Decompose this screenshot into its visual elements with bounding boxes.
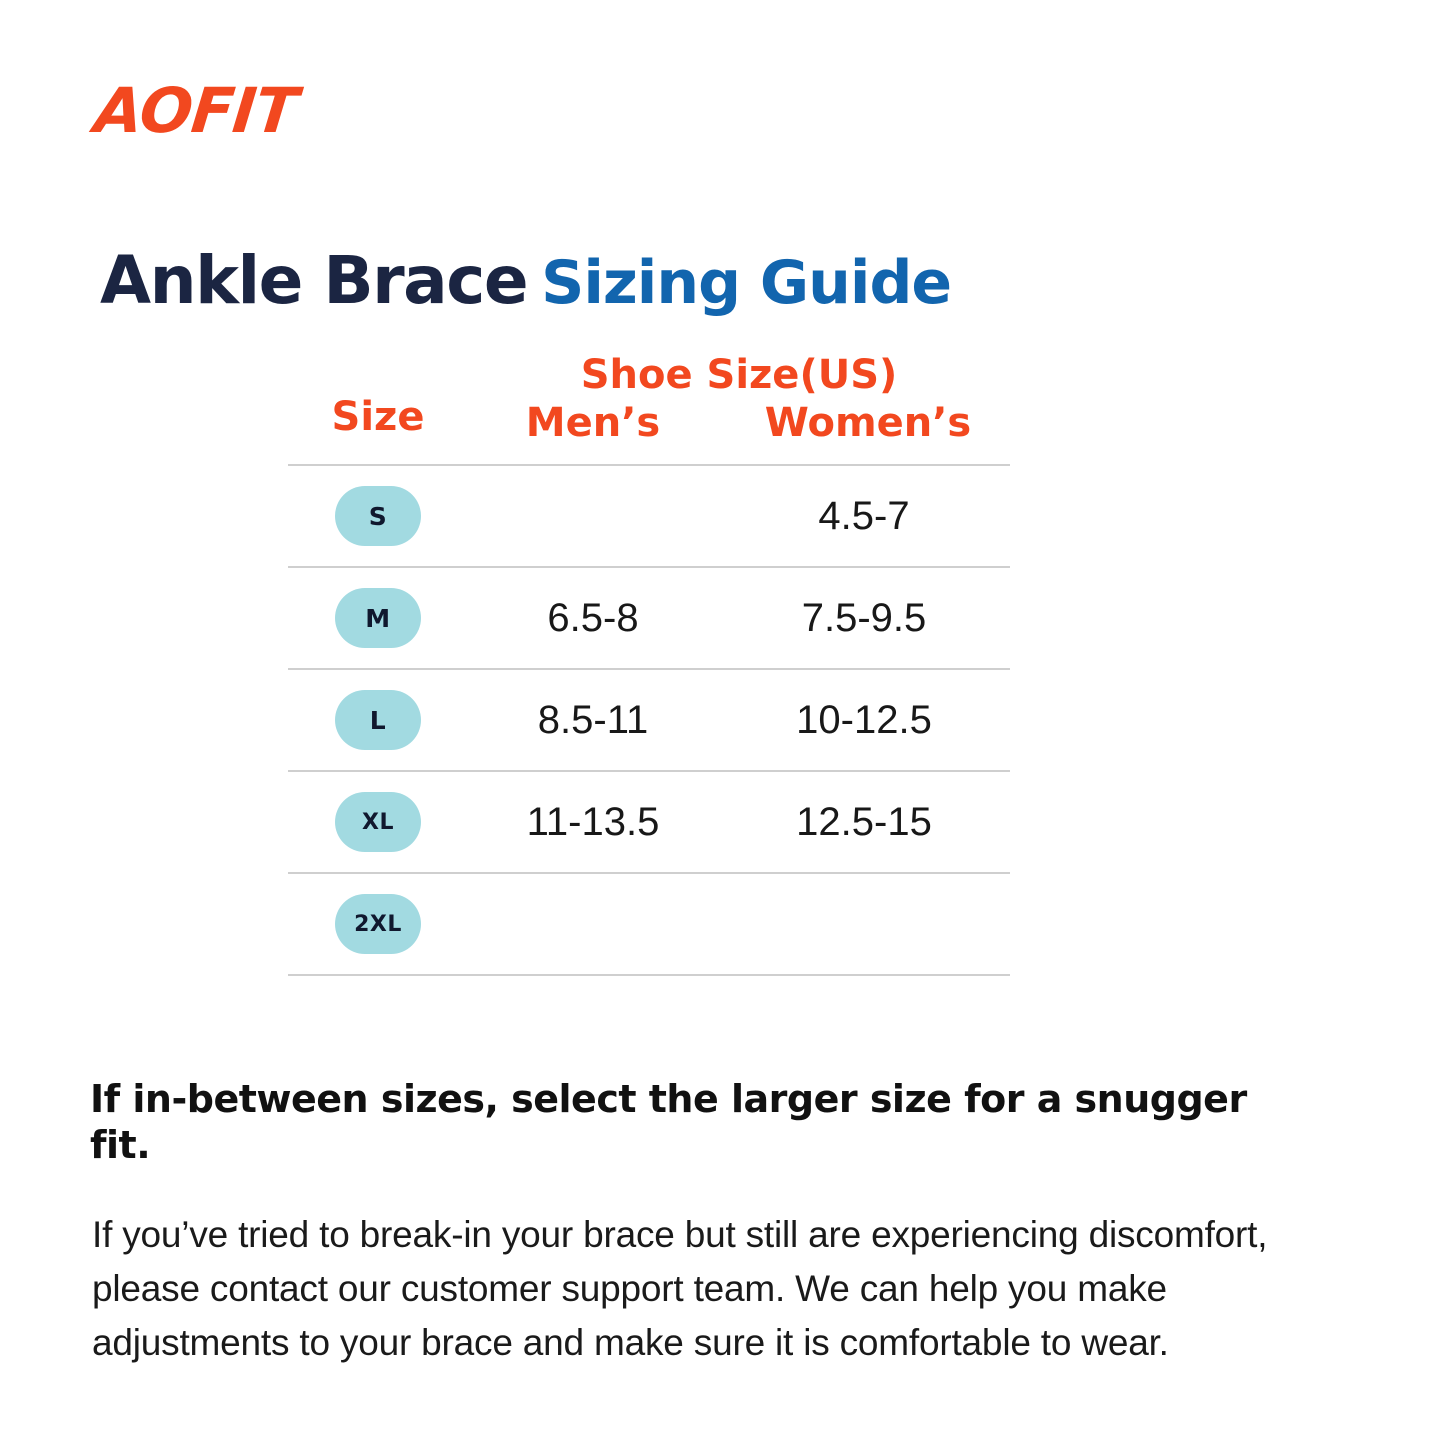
table-row: S 4.5-7 [288, 466, 1010, 566]
fit-advice-note: If in-between sizes, select the larger s… [90, 1076, 1250, 1169]
mens-size-value: 6.5-8 [468, 596, 718, 641]
womens-size-value: 7.5-9.5 [718, 596, 1010, 641]
support-note: If you’ve tried to break-in your brace b… [92, 1208, 1362, 1370]
size-badge-cell: L [288, 690, 468, 750]
size-badge: XL [335, 792, 421, 852]
table-row: L 8.5-11 10-12.5 [288, 670, 1010, 770]
table-row: 2XL [288, 874, 1010, 974]
table-header-row: Size Shoe Size(US) Men’s Women’s [288, 352, 1010, 464]
womens-size-value: 4.5-7 [718, 494, 1010, 539]
womens-size-value: 12.5-15 [718, 800, 1010, 845]
size-badge-cell: 2XL [288, 894, 468, 954]
size-badge: L [335, 690, 421, 750]
size-badge: S [335, 486, 421, 546]
page-title-main: Ankle Brace [100, 242, 527, 319]
page-title-sub: Sizing Guide [541, 248, 951, 318]
column-header-size: Size [288, 394, 468, 440]
mens-size-value: 8.5-11 [468, 698, 718, 743]
page-title: Ankle BraceSizing Guide [100, 248, 951, 314]
column-header-shoe-size-group: Shoe Size(US) [468, 352, 1010, 398]
table-divider [288, 974, 1010, 976]
brand-logo-text: AOFIT [92, 80, 300, 142]
sizing-guide-page: AOFIT Ankle BraceSizing Guide Size Shoe … [0, 0, 1445, 1445]
size-badge-cell: M [288, 588, 468, 648]
column-header-womens: Women’s [726, 400, 1010, 446]
column-header-mens: Men’s [468, 400, 718, 446]
table-row: M 6.5-8 7.5-9.5 [288, 568, 1010, 668]
size-badge: M [335, 588, 421, 648]
size-badge-cell: XL [288, 792, 468, 852]
womens-size-value: 10-12.5 [718, 698, 1010, 743]
brand-logo: AOFIT [95, 78, 297, 144]
mens-size-value: 11-13.5 [468, 800, 718, 845]
sizing-table: Size Shoe Size(US) Men’s Women’s S 4.5-7… [288, 352, 1010, 976]
size-badge-cell: S [288, 486, 468, 546]
table-row: XL 11-13.5 12.5-15 [288, 772, 1010, 872]
size-badge: 2XL [335, 894, 421, 954]
